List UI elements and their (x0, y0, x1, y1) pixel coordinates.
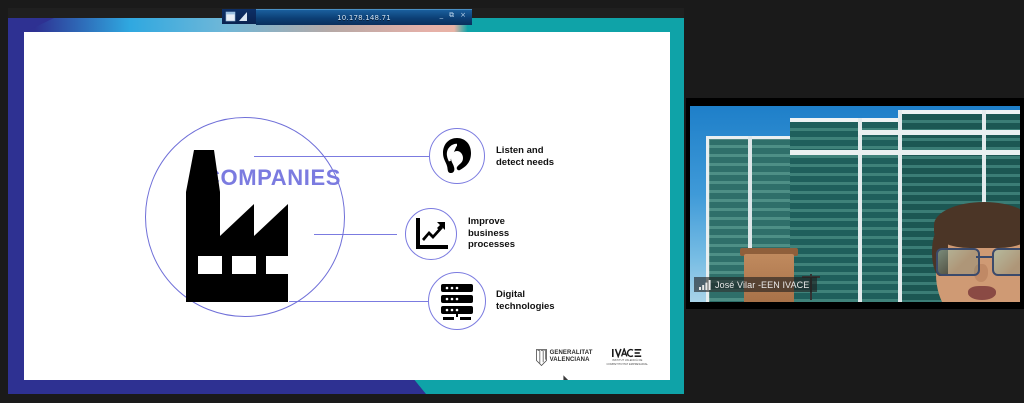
generalitat-valenciana-logo: GENERALITAT VALENCIANA (536, 349, 593, 366)
server-stack-icon (438, 282, 476, 320)
remote-window-title: 10.178.148.71 (337, 14, 391, 22)
video-feed: José Vilar -EEN IVACE (690, 106, 1020, 302)
slide-frame: COMPANIES Listen and detect needs (8, 18, 684, 394)
generalitat-logo-text: GENERALITAT VALENCIANA (550, 350, 593, 364)
participant-video-tile[interactable]: José Vilar -EEN IVACE (686, 98, 1024, 309)
screen-share-window: COMPANIES Listen and detect needs (8, 8, 684, 394)
slide-canvas: COMPANIES Listen and detect needs (24, 32, 670, 380)
growth-chart-icon (413, 217, 449, 251)
callout-circle-improve (405, 208, 457, 260)
factory-icon (180, 144, 330, 302)
generalitat-shield-icon (536, 349, 547, 366)
callout-label-listen: Listen and detect needs (496, 145, 596, 168)
eyeglass-lens-left (936, 248, 980, 276)
window-controls: _ ⧉ × (440, 12, 466, 19)
ivace-logo-subtitle: INSTITUT VALENCIÀ DE COMPETITIVITAT EMPR… (606, 359, 648, 365)
mouse-cursor-icon (563, 375, 572, 380)
frame-right-bar (670, 18, 684, 394)
building-band-2 (858, 130, 1020, 135)
eyeglasses-icon (934, 248, 1020, 274)
close-button[interactable]: × (460, 12, 466, 19)
signal-strength-icon (699, 280, 711, 290)
eyeglass-lens-right (992, 248, 1020, 276)
remote-window-titlebar[interactable]: 10.178.148.71 _ ⧉ × (8, 8, 684, 25)
minimize-button[interactable]: _ (440, 12, 444, 19)
participant-person (808, 158, 968, 302)
person-mouth (968, 286, 996, 300)
participant-name-badge: José Vilar -EEN IVACE (694, 277, 817, 292)
ivace-logo: INSTITUT VALENCIÀ DE COMPETITIVITAT EMPR… (606, 348, 648, 365)
building-band-1 (790, 150, 1020, 155)
titlebar-icon-group (222, 9, 259, 24)
window-icon (225, 11, 236, 22)
footer-logos: GENERALITAT VALENCIANA INSTITUT VALENCIÀ… (536, 344, 648, 370)
callout-circle-digital (428, 272, 486, 330)
restore-button[interactable]: ⧉ (449, 12, 454, 19)
ear-icon (440, 137, 474, 175)
eyeglass-bridge (976, 256, 992, 258)
participant-name-label: José Vilar -EEN IVACE (715, 280, 809, 290)
app-icon (238, 11, 249, 22)
callout-circle-listen (429, 128, 485, 184)
ivace-wordmark-icon (612, 348, 642, 358)
callout-label-digital: Digital technologies (496, 289, 596, 312)
remote-window-title-bar[interactable]: 10.178.148.71 _ ⧉ × (256, 9, 472, 25)
callout-label-improve: Improve business processes (468, 216, 568, 251)
frame-left-bar (8, 18, 22, 394)
